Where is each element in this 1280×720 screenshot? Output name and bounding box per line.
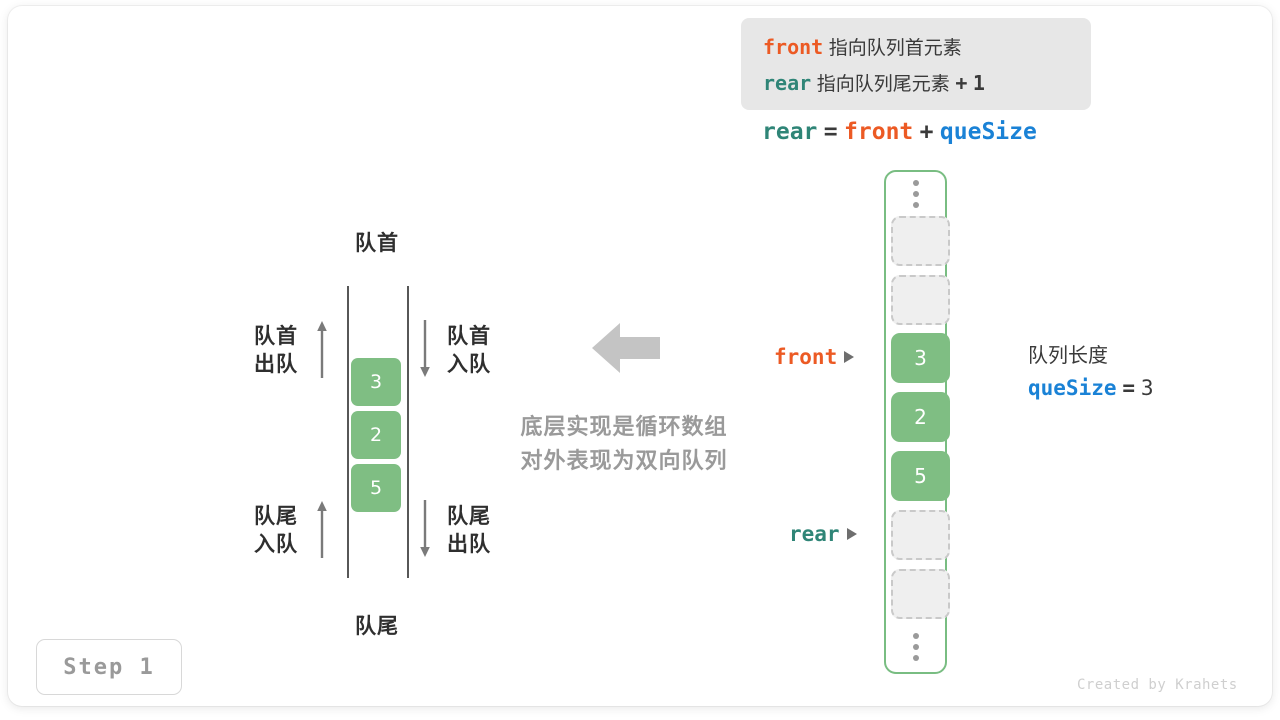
legend-line-rear: rear 指向队列尾元素 + 1 xyxy=(763,66,1091,102)
pointer-legend-box: front 指向队列首元素 rear 指向队列尾元素 + 1 xyxy=(741,18,1091,110)
op-label-tail-pop-line2: 出队 xyxy=(447,531,491,559)
diagram-canvas: front 指向队列首元素 rear 指向队列尾元素 + 1 rear = fr… xyxy=(0,0,1280,720)
arrow-down-tail-pop-icon xyxy=(418,500,432,558)
op-label-head-push-line1: 队首 xyxy=(447,323,491,351)
op-label-tail-push: 队尾 入队 xyxy=(236,503,298,559)
queue-size-note: 队列长度 queSize = 3 xyxy=(1028,340,1154,405)
deque-cell: 5 xyxy=(351,464,401,512)
implementation-note-line1: 底层实现是循环数组 xyxy=(493,410,755,444)
pointer-triangle-icon xyxy=(847,528,857,540)
array-slot: 2 xyxy=(891,392,950,442)
array-slot xyxy=(891,275,950,325)
formula-equals: = xyxy=(824,119,838,145)
ellipsis-top-icon xyxy=(884,180,947,208)
op-label-head-pop-line1: 队首 xyxy=(236,323,298,351)
quesize-equals: = xyxy=(1122,376,1135,400)
deque-rail-right xyxy=(407,286,409,578)
quesize-value: 3 xyxy=(1141,376,1154,400)
front-pointer-label: front xyxy=(774,345,837,369)
implementation-note-line2: 对外表现为双向队列 xyxy=(493,444,755,478)
deque-cell: 3 xyxy=(351,358,401,406)
rear-pointer-label: rear xyxy=(789,522,840,546)
deque-rail-left xyxy=(347,286,349,578)
op-label-tail-pop-line1: 队尾 xyxy=(447,503,491,531)
array-slot xyxy=(891,510,950,560)
legend-rear-offset: 1 xyxy=(973,71,985,95)
array-slot xyxy=(891,569,950,619)
rear-pointer: rear xyxy=(789,522,857,546)
op-label-head-pop-line2: 出队 xyxy=(236,351,298,379)
formula-rear: rear xyxy=(762,119,817,145)
credit-text: Created by Krahets xyxy=(1077,677,1238,693)
op-label-head-pop: 队首 出队 xyxy=(236,323,298,379)
op-label-tail-pop: 队尾 出队 xyxy=(447,503,491,559)
legend-rear-plus: + xyxy=(955,71,967,95)
op-label-tail-push-line2: 入队 xyxy=(236,531,298,559)
array-slot xyxy=(891,216,950,266)
legend-front-term: front xyxy=(763,35,823,59)
quesize-var: queSize xyxy=(1028,376,1117,400)
deque-head-label: 队首 xyxy=(347,227,407,257)
op-label-head-push-line2: 入队 xyxy=(447,351,491,379)
arrow-up-tail-push-icon xyxy=(315,500,329,558)
pointer-triangle-icon xyxy=(844,351,854,363)
arrow-down-head-push-icon xyxy=(418,320,432,378)
arrow-up-head-pop-icon xyxy=(315,320,329,378)
formula-front: front xyxy=(844,119,913,145)
formula-plus: + xyxy=(920,119,934,145)
deque-cell: 2 xyxy=(351,411,401,459)
rear-formula: rear = front + queSize xyxy=(762,118,1037,145)
left-arrow-icon xyxy=(592,320,660,376)
op-label-head-push: 队首 入队 xyxy=(447,323,491,379)
deque-tail-label: 队尾 xyxy=(347,610,407,640)
array-slot: 5 xyxy=(891,451,950,501)
op-label-tail-push-line1: 队尾 xyxy=(236,503,298,531)
queue-size-label: 队列长度 xyxy=(1028,340,1154,372)
formula-quesize: queSize xyxy=(940,119,1037,145)
step-badge: Step 1 xyxy=(36,639,182,695)
legend-front-text: 指向队列首元素 xyxy=(829,38,962,59)
legend-line-front: front 指向队列首元素 xyxy=(763,30,1091,66)
queue-size-expression: queSize = 3 xyxy=(1028,372,1154,405)
array-slot: 3 xyxy=(891,333,950,383)
ellipsis-bottom-icon xyxy=(884,633,947,661)
legend-rear-text: 指向队列尾元素 xyxy=(817,74,950,95)
legend-rear-term: rear xyxy=(763,71,811,95)
front-pointer: front xyxy=(774,345,854,369)
implementation-note: 底层实现是循环数组 对外表现为双向队列 xyxy=(493,410,755,478)
